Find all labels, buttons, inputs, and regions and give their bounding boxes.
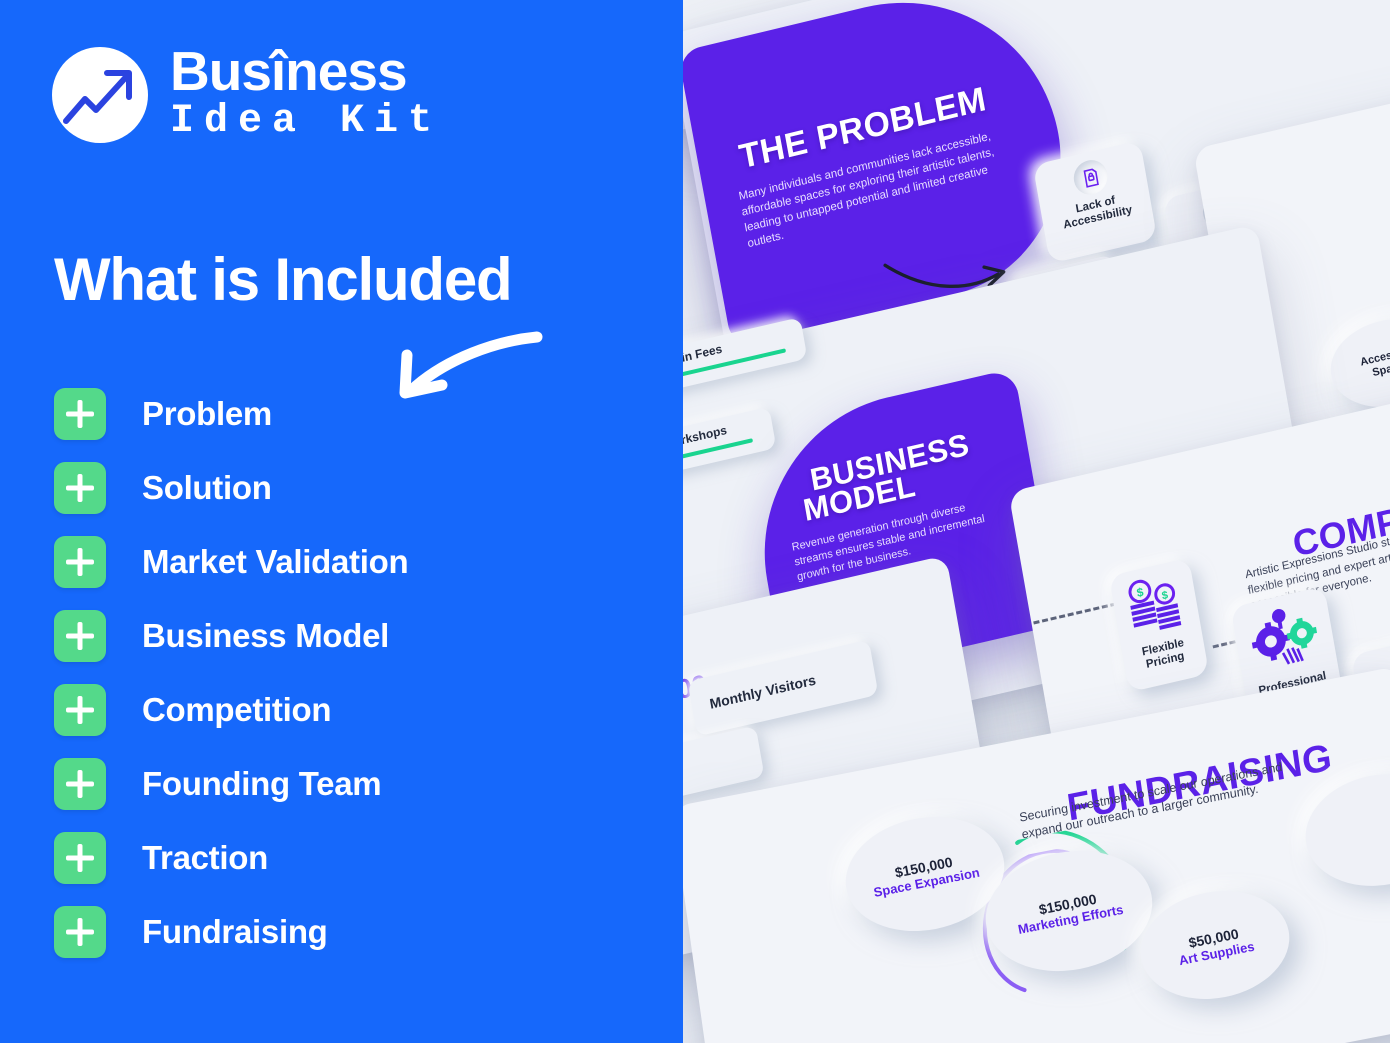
plus-icon [54,388,106,440]
brand-name-secondary: Idea Kit [170,99,442,145]
list-item[interactable]: Solution [54,460,408,515]
list-item[interactable]: Market Validation [54,534,408,589]
accessible-spaces-label: Accessible Spaces [1349,342,1390,384]
plus-icon [54,684,106,736]
list-item-label: Traction [142,839,268,877]
page-title: What is Included [54,245,512,314]
list-item[interactable]: Founding Team [54,756,408,811]
list-item[interactable]: Problem [54,386,408,441]
plus-icon [54,832,106,884]
brand-wordmark: Busîness Idea Kit [170,45,442,145]
poster-canvas: THE PROBLEM Many individuals and communi… [0,0,1390,1043]
svg-text:$: $ [1136,585,1145,600]
list-item[interactable]: Business Model [54,608,408,663]
traction-metric-label: Monthly Visitors [708,672,817,712]
plus-icon [54,462,106,514]
plus-icon [54,610,106,662]
list-item-label: Problem [142,395,272,433]
list-item-label: Founding Team [142,765,381,803]
list-item[interactable]: Competition [54,682,408,737]
plus-icon [54,906,106,958]
included-items-list: Problem Solution Market Validation Busin… [54,386,408,978]
list-item-label: Competition [142,691,331,729]
curved-down-left-arrow-icon [385,325,545,410]
svg-text:$: $ [1161,589,1169,602]
list-item[interactable]: Traction [54,830,408,885]
plus-icon [54,536,106,588]
gears-idea-icon [1242,597,1325,675]
list-item-label: Market Validation [142,543,408,581]
list-item-label: Fundraising [142,913,328,951]
list-item[interactable]: Fundraising [54,904,408,959]
money-stack-icon: $ $ [1121,570,1190,641]
growth-arrow-icon [52,47,148,143]
plus-icon [54,758,106,810]
problem-card-0-label: Lack of Accessibility [1041,187,1153,237]
brand-name-primary: Busîness [170,45,442,99]
list-item-label: Business Model [142,617,389,655]
locked-document-icon [1071,157,1110,198]
brand-logo: Busîness Idea Kit [52,45,442,145]
left-blue-panel: Busîness Idea Kit What is Included Probl… [0,0,683,1043]
list-item-label: Solution [142,469,272,507]
